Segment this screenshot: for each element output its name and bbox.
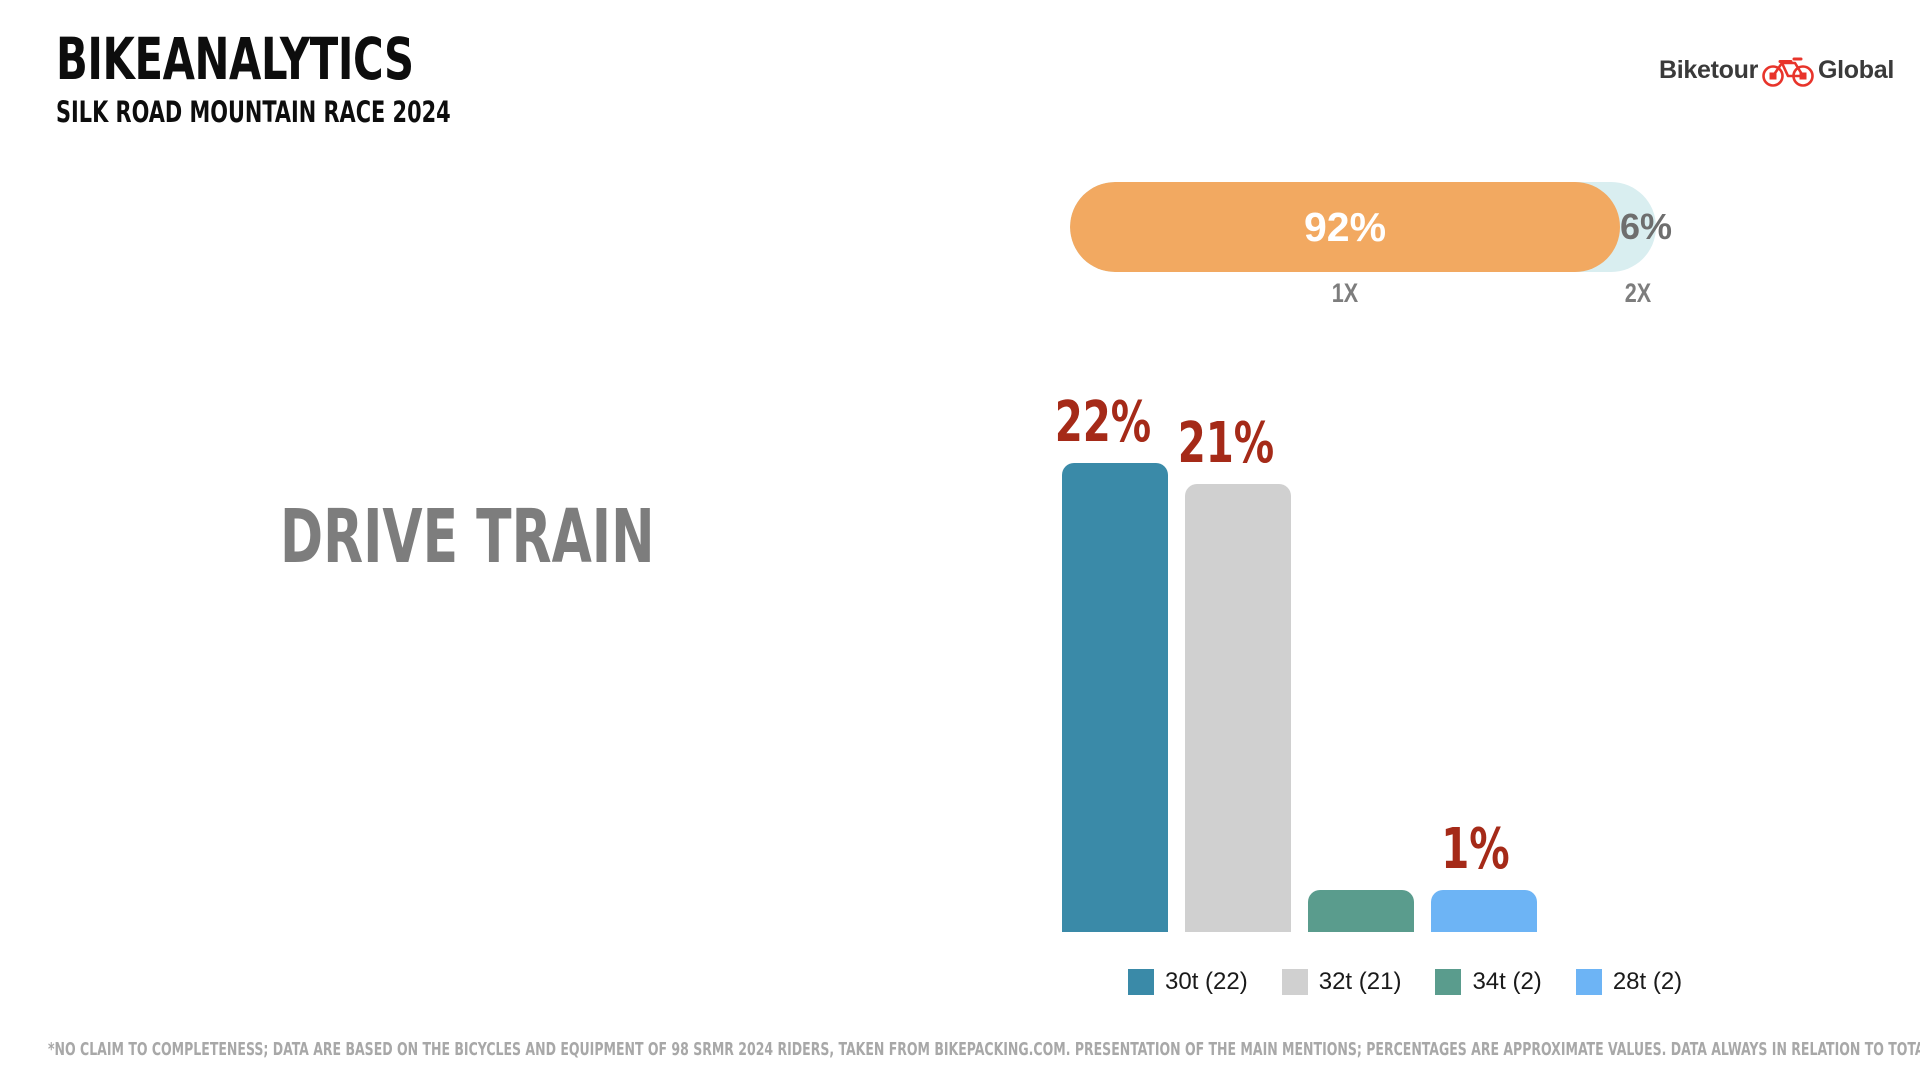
page-title: BIKEANALYTICS: [56, 30, 414, 88]
legend-swatch-icon: [1128, 969, 1154, 995]
footnote: *NO CLAIM TO COMPLETENESS; DATA ARE BASE…: [48, 1040, 1920, 1060]
ratio-bar-chart: 92% 6%: [1070, 182, 1656, 272]
legend-label: 28t (2): [1613, 969, 1682, 995]
bar-column[interactable]: 21%: [1185, 420, 1291, 932]
legend-label: 30t (22): [1165, 969, 1248, 995]
bar-value-label: 1%: [1441, 822, 1509, 878]
section-title: DRIVE TRAIN: [280, 500, 655, 574]
legend-item[interactable]: 34t (2): [1435, 969, 1541, 995]
drivetrain-bar-chart: 22% 21% 1%: [1062, 420, 1532, 932]
brand-logo: Biketour Global: [1659, 50, 1894, 90]
legend-item[interactable]: 30t (22): [1128, 969, 1248, 995]
legend-label: 32t (21): [1319, 969, 1402, 995]
ratio-axis-label-1x: 1X: [1125, 278, 1565, 309]
bicycle-icon: [1760, 53, 1816, 87]
bar-rect[interactable]: [1308, 890, 1414, 932]
ratio-axis-label-2x: 2X: [1624, 278, 1653, 309]
bar-value-label: 22%: [1055, 395, 1151, 451]
bar-value-label: 21%: [1178, 416, 1274, 472]
legend-swatch-icon: [1282, 969, 1308, 995]
brand-word-left: Biketour: [1659, 58, 1758, 83]
legend-item[interactable]: 32t (21): [1282, 969, 1402, 995]
bar-rect[interactable]: [1185, 484, 1291, 932]
brand-word-right: Global: [1818, 58, 1894, 83]
bar-column[interactable]: [1308, 420, 1414, 932]
page-subtitle: SILK ROAD MOUNTAIN RACE 2024: [56, 98, 451, 127]
chart-legend: 30t (22) 32t (21) 34t (2) 28t (2): [1128, 965, 1716, 999]
ratio-value-1x: 92%: [1070, 182, 1620, 272]
bar-rect[interactable]: [1431, 890, 1537, 932]
legend-item[interactable]: 28t (2): [1576, 969, 1682, 995]
bar-rect[interactable]: [1062, 463, 1168, 932]
bar-column[interactable]: 22%: [1062, 420, 1168, 932]
bar-column[interactable]: 1%: [1431, 420, 1537, 932]
legend-swatch-icon: [1435, 969, 1461, 995]
ratio-value-2x: 6%: [1620, 182, 1656, 272]
legend-label: 34t (2): [1472, 969, 1541, 995]
legend-swatch-icon: [1576, 969, 1602, 995]
